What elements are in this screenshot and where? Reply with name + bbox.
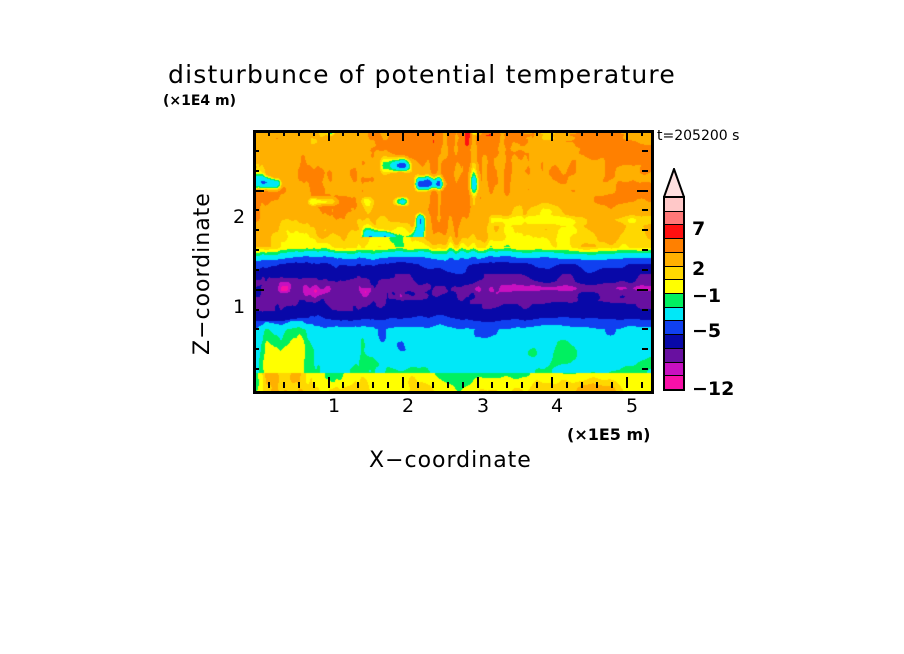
x-minor-tick-top <box>462 130 464 136</box>
x-minor-tick <box>566 382 568 388</box>
colorbar-band-2b <box>665 253 683 267</box>
x-minor-tick-top <box>581 130 583 136</box>
colorbar-band-10 <box>665 212 683 226</box>
x-major-tick <box>477 377 479 388</box>
xtick-5: 5 <box>626 395 638 417</box>
figure-canvas: disturbunce of potential temperature (×1… <box>0 0 904 654</box>
colorbar-band-14 <box>665 198 683 212</box>
x-minor-tick <box>268 382 270 388</box>
colorbar-band-n1 <box>665 308 683 322</box>
y-major-tick-right <box>637 289 648 291</box>
xtick-3: 3 <box>477 395 489 417</box>
x-major-tick-top <box>402 130 404 141</box>
x-minor-tick <box>521 382 523 388</box>
y-minor-tick <box>253 209 259 211</box>
x-minor-tick <box>506 382 508 388</box>
colorbar-band-2 <box>665 267 683 281</box>
x-minor-tick-top <box>298 130 300 136</box>
x-minor-tick <box>462 382 464 388</box>
x-axis-unit-label: (×1E5 m) <box>567 425 650 444</box>
y-major-tick <box>253 190 264 192</box>
x-minor-tick-top <box>268 130 270 136</box>
x-minor-tick-top <box>521 130 523 136</box>
colorbar-band-1 <box>665 280 683 294</box>
y-minor-tick <box>253 368 259 370</box>
x-major-tick-top <box>551 130 553 141</box>
cb-label-m1: −1 <box>692 285 721 307</box>
x-major-tick <box>328 377 330 388</box>
x-minor-tick-top <box>447 130 449 136</box>
x-minor-tick <box>447 382 449 388</box>
ytick-1: 1 <box>233 296 245 318</box>
x-minor-tick-top <box>506 130 508 136</box>
x-minor-tick <box>298 382 300 388</box>
y-minor-tick-right <box>642 229 648 231</box>
y-minor-tick <box>253 150 259 152</box>
x-minor-tick <box>611 382 613 388</box>
x-major-tick <box>402 377 404 388</box>
x-minor-tick <box>357 382 359 388</box>
cb-label-2: 2 <box>692 258 705 280</box>
y-minor-tick <box>253 309 259 311</box>
y-minor-tick <box>253 269 259 271</box>
y-minor-tick <box>253 249 259 251</box>
y-major-tick <box>253 289 264 291</box>
x-minor-tick-top <box>536 130 538 136</box>
y-minor-tick-right <box>642 309 648 311</box>
x-minor-tick-top <box>491 130 493 136</box>
colorbar-band-7 <box>665 225 683 239</box>
x-minor-tick-top <box>611 130 613 136</box>
x-minor-tick-top <box>417 130 419 136</box>
y-axis-title: Z−coordinate <box>190 192 215 355</box>
x-minor-tick <box>417 382 419 388</box>
x-major-tick-top <box>477 130 479 141</box>
y-minor-tick <box>253 328 259 330</box>
y-major-tick-right <box>637 190 648 192</box>
colorbar-band-n12 <box>665 376 683 389</box>
x-minor-tick <box>641 382 643 388</box>
x-minor-tick-top <box>387 130 389 136</box>
x-minor-tick-top <box>357 130 359 136</box>
x-major-tick <box>626 377 628 388</box>
xtick-1: 1 <box>328 395 340 417</box>
contour-plot-area <box>253 130 654 394</box>
x-minor-tick <box>491 382 493 388</box>
x-minor-tick-top <box>283 130 285 136</box>
colorbar-band-n8 <box>665 349 683 363</box>
x-minor-tick <box>432 382 434 388</box>
x-minor-tick-top <box>342 130 344 136</box>
colorbar-band-4 <box>665 239 683 253</box>
y-minor-tick <box>253 229 259 231</box>
z-axis-unit-label: (×1E4 m) <box>163 93 236 109</box>
xtick-4: 4 <box>551 395 563 417</box>
colorbar-band-n10 <box>665 363 683 377</box>
colorbar-band-0 <box>665 294 683 308</box>
x-minor-tick <box>387 382 389 388</box>
x-minor-tick-top <box>596 130 598 136</box>
colorbar-band-n3 <box>665 321 683 335</box>
page-title: disturbunce of potential temperature <box>168 60 676 89</box>
x-minor-tick-top <box>566 130 568 136</box>
contour-field <box>256 133 651 391</box>
x-major-tick <box>551 377 553 388</box>
y-minor-tick-right <box>642 269 648 271</box>
x-minor-tick <box>536 382 538 388</box>
xtick-2: 2 <box>402 395 414 417</box>
x-minor-tick-top <box>313 130 315 136</box>
y-minor-tick-right <box>642 209 648 211</box>
y-minor-tick-right <box>642 249 648 251</box>
cb-label-7: 7 <box>692 218 705 240</box>
colorbar-arrow-tip <box>663 168 685 198</box>
colorbar-band-n5 <box>665 335 683 349</box>
ytick-2: 2 <box>233 206 245 228</box>
y-minor-tick-right <box>642 150 648 152</box>
x-major-tick-top <box>328 130 330 141</box>
colorbar <box>663 196 685 391</box>
y-minor-tick <box>253 170 259 172</box>
x-minor-tick <box>372 382 374 388</box>
x-minor-tick-top <box>372 130 374 136</box>
x-minor-tick <box>313 382 315 388</box>
x-minor-tick-top <box>432 130 434 136</box>
x-minor-tick <box>596 382 598 388</box>
x-major-tick-top <box>626 130 628 141</box>
cb-label-m5: −5 <box>692 320 721 342</box>
x-axis-title: X−coordinate <box>369 448 532 473</box>
y-minor-tick-right <box>642 348 648 350</box>
x-minor-tick <box>283 382 285 388</box>
cb-label-m12: −12 <box>692 378 734 400</box>
y-minor-tick-right <box>642 328 648 330</box>
y-minor-tick <box>253 348 259 350</box>
y-minor-tick-right <box>642 170 648 172</box>
x-minor-tick-top <box>641 130 643 136</box>
x-minor-tick <box>342 382 344 388</box>
timestamp-annotation: t=205200 s <box>657 128 739 144</box>
x-minor-tick <box>581 382 583 388</box>
y-minor-tick-right <box>642 368 648 370</box>
